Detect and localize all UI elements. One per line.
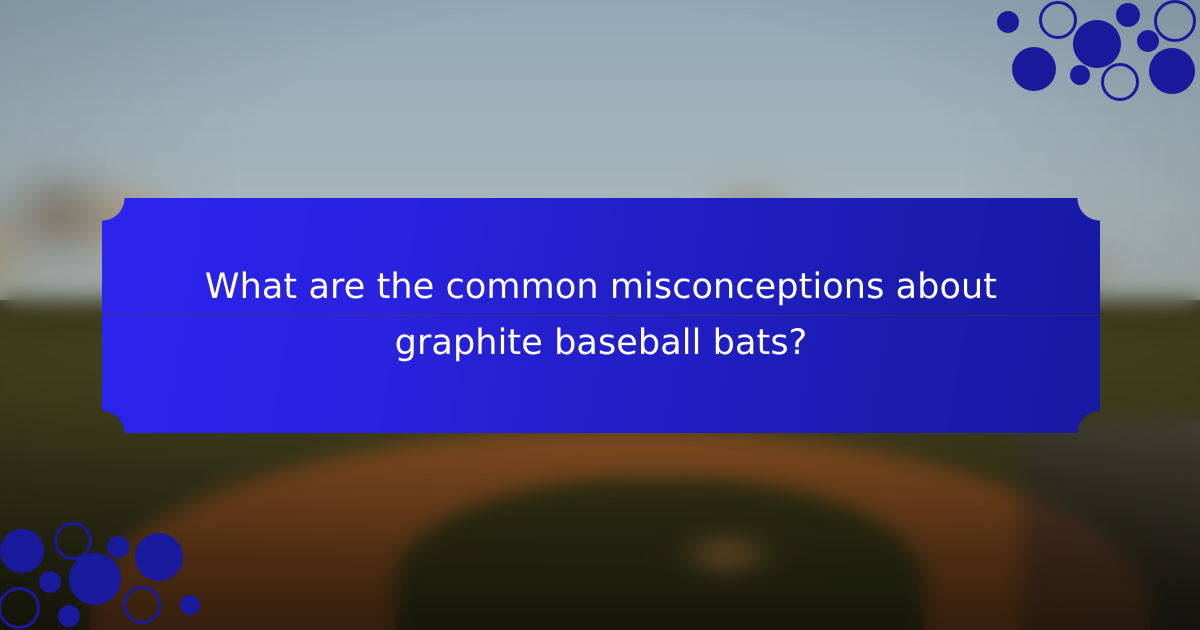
question-card-graphic: What are the common misconceptions about… [0,0,1200,630]
question-title: What are the common misconceptions about… [201,260,1001,371]
question-card: What are the common misconceptions about… [102,198,1100,433]
